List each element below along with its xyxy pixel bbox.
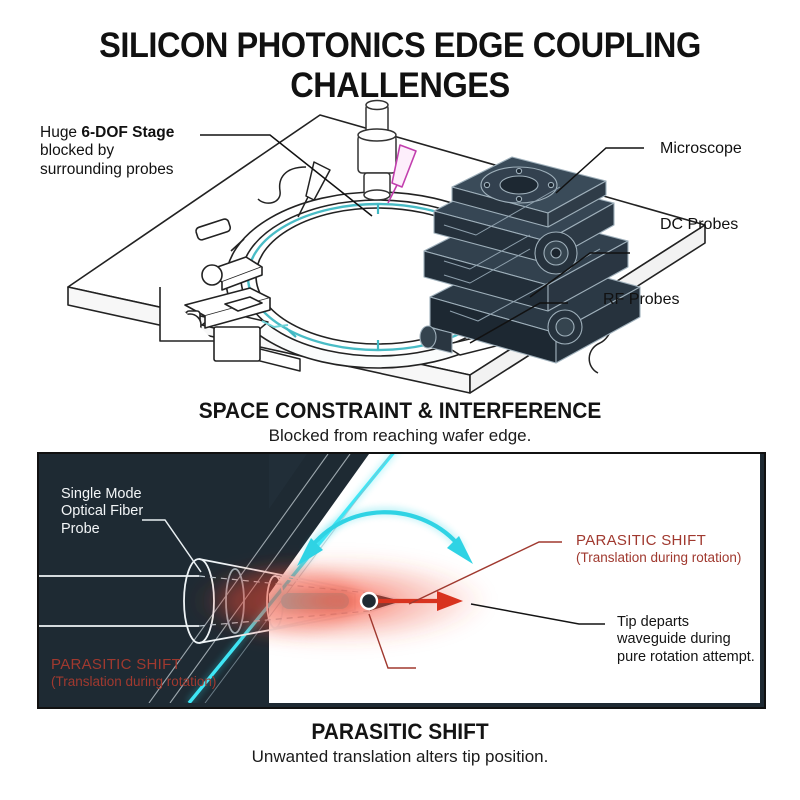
bottom-caption-subtext: Unwanted translation alters tip position… (0, 747, 800, 767)
bottom-caption: PARASITIC SHIFT Unwanted translation alt… (0, 719, 800, 767)
label-six-dof-stage: Huge 6-DOF Stage blocked by surrounding … (40, 124, 174, 179)
label-rf-probes: RF Probes (603, 291, 679, 310)
parasitic-shift-panel: Single Mode Optical Fiber Probe PARASITI… (37, 452, 766, 709)
stage-label-line2: blocked by (40, 142, 114, 159)
stage-label-prefix: Huge (40, 124, 81, 141)
bottom-caption-heading: PARASITIC SHIFT (20, 719, 780, 745)
fiber-tip-marker (361, 593, 377, 609)
fiber-label-line3: Probe (61, 521, 143, 538)
label-tip-departs-note: Tip departs waveguide during pure rotati… (617, 614, 755, 666)
stage-knob-2 (548, 310, 582, 344)
top-caption-subtext: Blocked from reaching wafer edge. (0, 426, 800, 446)
infographic-root: SILICON PHOTONICS EDGE COUPLING CHALLENG… (0, 0, 800, 800)
parasitic-right-heading: PARASITIC SHIFT (576, 532, 741, 550)
top-caption-heading: SPACE CONSTRAINT & INTERFERENCE (20, 398, 780, 424)
label-microscope: Microscope (660, 140, 742, 159)
top-caption: SPACE CONSTRAINT & INTERFERENCE Blocked … (0, 398, 800, 446)
stage-label-bold: 6-DOF Stage (81, 124, 174, 141)
illuminator-column (358, 101, 396, 201)
tip-note-line1: Tip departs (617, 614, 755, 631)
fiber-label-line2: Optical Fiber (61, 503, 143, 520)
stage-label-line3: surrounding probes (40, 161, 174, 178)
tip-note-line2: waveguide during (617, 631, 755, 648)
fiber-label-line1: Single Mode (61, 486, 143, 503)
label-parasitic-shift-lower: PARASITIC SHIFT (Translation during rota… (51, 656, 216, 690)
tip-note-line3: pure rotation attempt. (617, 649, 755, 666)
label-optical-fiber-probe: Single Mode Optical Fiber Probe (61, 486, 143, 538)
six-dof-stage (420, 157, 640, 363)
label-parasitic-shift-right: PARASITIC SHIFT (Translation during rota… (576, 532, 741, 566)
parasitic-right-subtext: (Translation during rotation) (576, 550, 741, 566)
parasitic-lower-heading: PARASITIC SHIFT (51, 656, 216, 674)
parasitic-lower-subtext: (Translation during rotation) (51, 674, 216, 690)
label-dc-probes: DC Probes (660, 216, 738, 235)
